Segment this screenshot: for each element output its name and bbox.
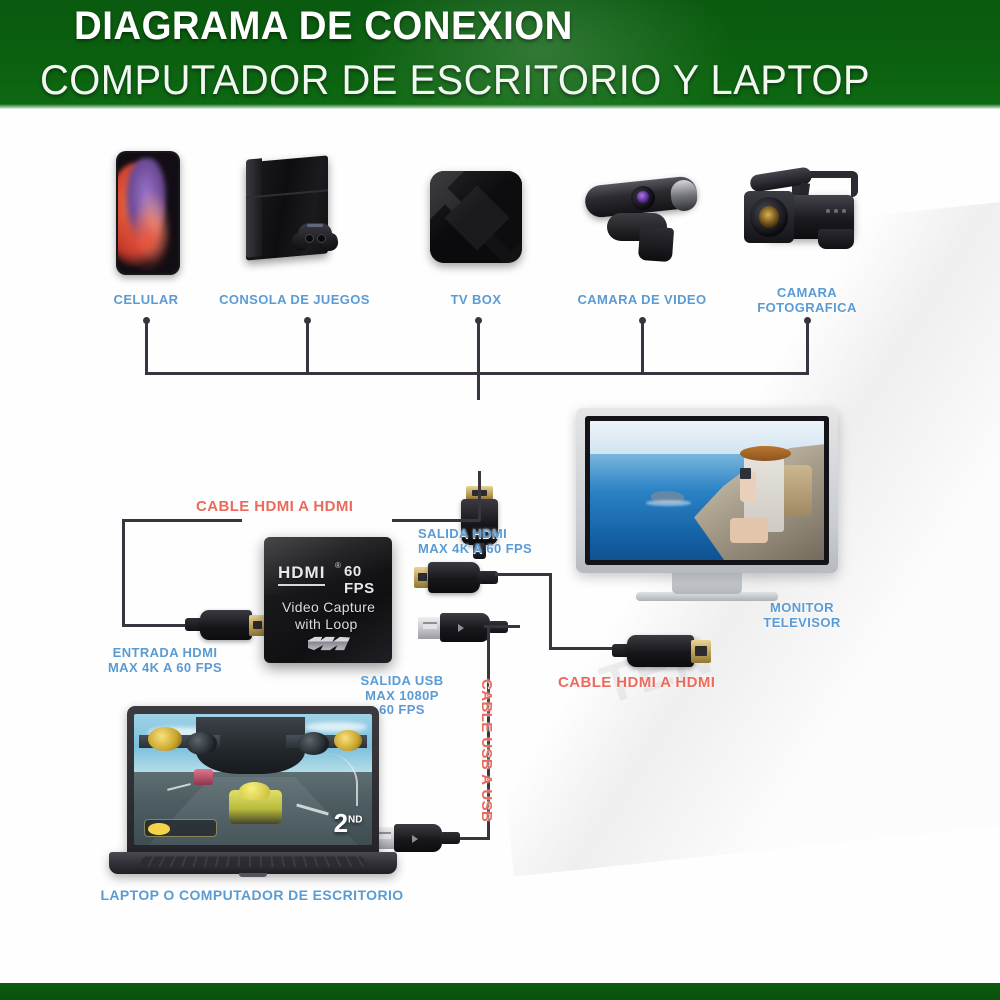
cable-label-hdmi-out: CABLE HDMI A HDMI — [558, 675, 715, 692]
salida-usb-line2: MAX 1080P — [365, 688, 439, 703]
smartphone-screen — [118, 153, 178, 273]
cable-label-hdmi-in: CABLE HDMI A HDMI — [196, 499, 353, 516]
wire-drop-camara-video — [641, 320, 644, 374]
wire-hdmi-top-to-box — [478, 471, 481, 521]
port-label-entrada-hdmi: ENTRADA HDMI MAX 4K A 60 FPS — [60, 646, 270, 675]
source-label-consola: CONSOLA DE JUEGOS — [207, 293, 382, 308]
wire-node-celular — [143, 317, 150, 324]
destination-label-laptop: LAPTOP O COMPUTADOR DE ESCRITORIO — [52, 888, 452, 904]
video-capture-device: HDMI ® 60 FPS Video Capture with Loop — [264, 537, 392, 663]
usb-connector-output — [418, 609, 513, 649]
wire-node-camara-foto — [804, 317, 811, 324]
capture-fps-label: 60 FPS — [344, 563, 392, 597]
hdmi-connector-input — [185, 604, 275, 646]
wire-hdmi-in-top — [122, 519, 242, 522]
monitor-line1: MONITOR — [770, 600, 834, 615]
gamepad-icon — [290, 219, 340, 251]
wire-bus-to-hdmi-plug — [477, 372, 480, 400]
usb-symbol-icon — [458, 624, 464, 632]
laptop-device: 2ND — [103, 706, 403, 886]
wire-drop-celular — [145, 320, 148, 374]
header-banner: DIAGRAMA DE CONEXION COMPUTADOR DE ESCRI… — [0, 0, 1000, 109]
wire-node-camara-video — [639, 317, 646, 324]
wire-node-tvbox — [475, 317, 482, 324]
smartphone-icon — [116, 151, 180, 275]
connection-diagram-page: DIAGRAMA DE CONEXION COMPUTADOR DE ESCRI… — [0, 0, 1000, 1000]
entrada-hdmi-line2: MAX 4K A 60 FPS — [108, 660, 222, 675]
hdmi-connector-monitor — [612, 631, 717, 673]
salida-hdmi-line2: MAX 4K A 60 FPS — [418, 541, 532, 556]
camcorder-icon — [740, 157, 866, 269]
tv-box-icon — [430, 171, 522, 263]
game-console-icon — [238, 159, 336, 263]
port-label-salida-hdmi: SALIDA HDMI MAX 4K A 60 FPS — [418, 527, 532, 556]
wire-hdmi-out-v — [549, 573, 552, 649]
usb-symbol-icon-2 — [412, 835, 418, 843]
camara-foto-line2: FOTOGRAFICA — [757, 300, 857, 315]
source-label-camara-video: CAMARA DE VIDEO — [557, 293, 727, 308]
wire-node-consola — [304, 317, 311, 324]
camara-foto-line1: CAMARA — [777, 285, 837, 300]
webcam-icon — [583, 167, 701, 267]
wire-drop-camara-foto — [806, 320, 809, 374]
wire-hdmi-in-vertical — [122, 520, 125, 626]
hdmi-connector-output — [414, 557, 509, 599]
destination-label-monitor: MONITOR TELEVISOR — [712, 601, 892, 630]
wire-drop-tvbox — [477, 320, 480, 374]
wire-hdmi-in-bottom — [122, 624, 188, 627]
wire-drop-consola — [306, 320, 309, 374]
salida-hdmi-line1: SALIDA HDMI — [418, 526, 507, 541]
monitor-device — [576, 408, 838, 604]
entrada-hdmi-line1: ENTRADA HDMI — [113, 645, 218, 660]
source-label-celular: CELULAR — [86, 293, 206, 308]
capture-registered-mark: ® — [335, 561, 341, 570]
monitor-screen — [590, 421, 824, 560]
wire-hdmi-out-h2 — [549, 647, 617, 650]
capture-desc-line1: Video Capture — [282, 599, 375, 615]
wire-hdmi-top-bend — [392, 519, 480, 522]
source-label-camara-fotografica: CAMARA FOTOGRAFICA — [742, 286, 872, 315]
page-title-line1: DIAGRAMA DE CONEXION — [74, 4, 573, 49]
capture-desc-line2: with Loop — [295, 616, 358, 632]
cable-label-usb: CABLE USB A USB — [477, 679, 494, 822]
monitor-line2: TELEVISOR — [763, 615, 840, 630]
diagram-canvas: TEN — [0, 109, 1000, 983]
capture-hdmi-logo: HDMI — [278, 563, 325, 586]
wire-hdmi-out-h1 — [495, 573, 552, 576]
source-label-tvbox: TV BOX — [416, 293, 536, 308]
footer-bar — [0, 983, 1000, 1000]
laptop-screen: 2ND — [134, 714, 372, 845]
page-title-line2: COMPUTADOR DE ESCRITORIO Y LAPTOP — [40, 56, 870, 104]
capture-brand-logo-icon — [308, 636, 350, 651]
game-position-indicator: 2ND — [334, 810, 363, 836]
salida-usb-line1: SALIDA USB — [361, 673, 444, 688]
